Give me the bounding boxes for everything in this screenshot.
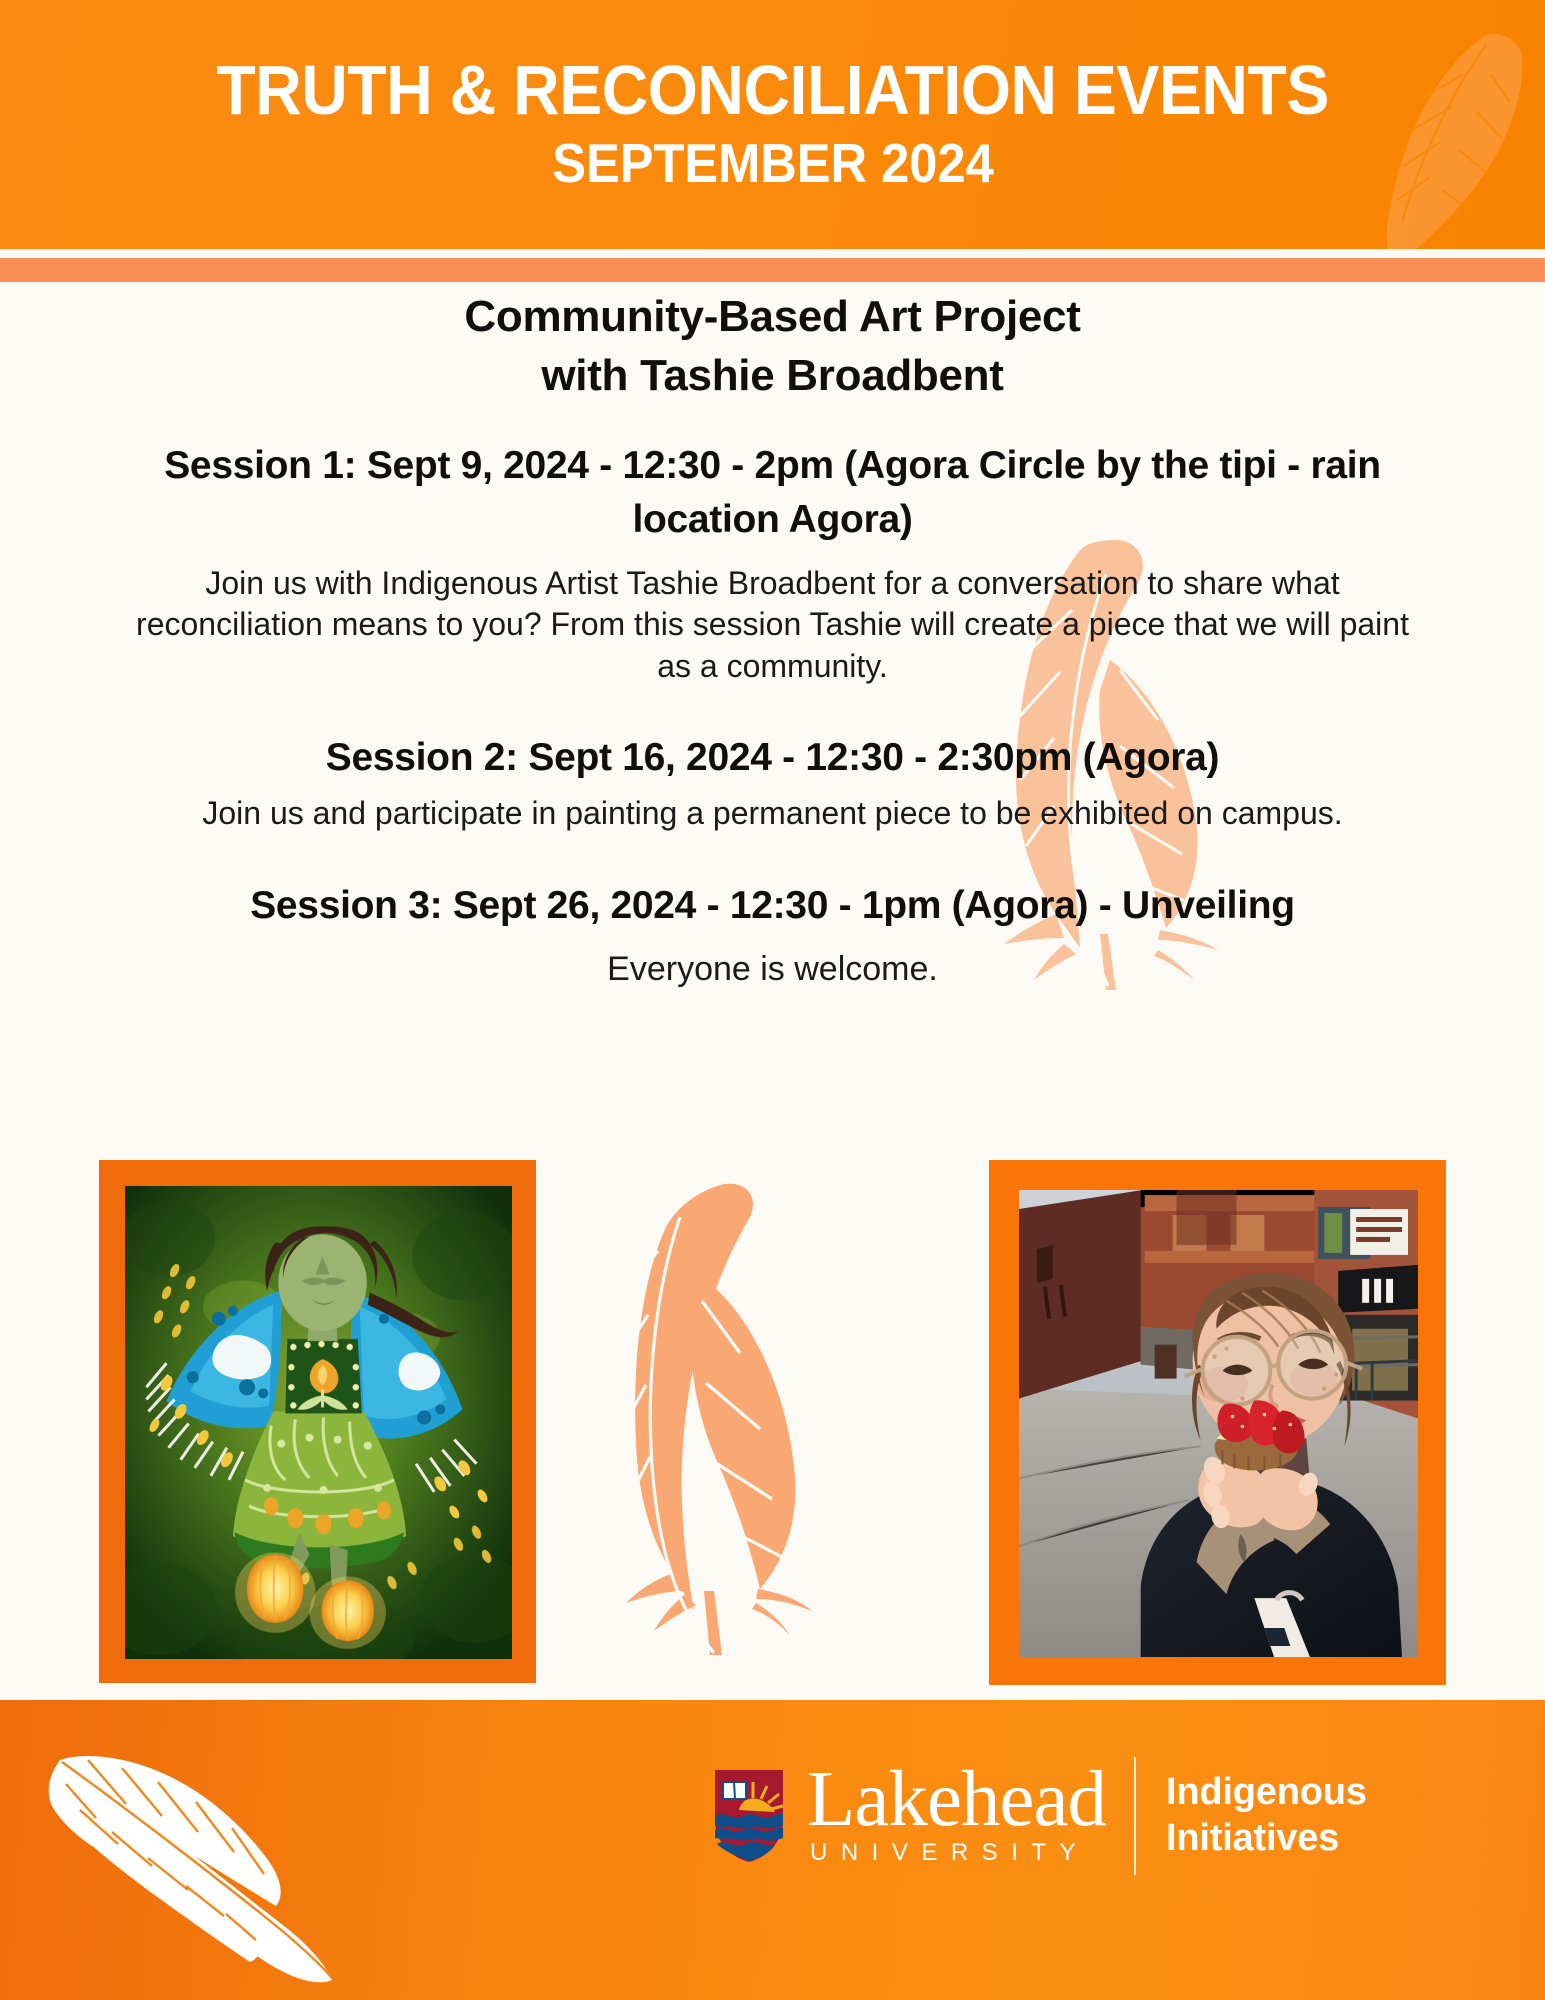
- logo-divider: [1134, 1757, 1136, 1875]
- session-1-description: Join us with Indigenous Artist Tashie Br…: [0, 563, 1545, 688]
- event-title-line-1: Community-Based Art Project: [0, 288, 1545, 347]
- session-3-heading: Session 3: Sept 26, 2024 - 12:30 - 1pm (…: [0, 879, 1545, 933]
- poster-footer: Lakehead UNIVERSITY Indigenous Initiativ…: [0, 1700, 1545, 2000]
- poster-subtitle: SEPTEMBER 2024: [552, 132, 994, 195]
- event-title-line-2: with Tashie Broadbent: [0, 347, 1545, 406]
- logo-subtitle: UNIVERSITY: [810, 1839, 1106, 1867]
- poster-canvas: TRUTH & RECONCILIATION EVENTS SEPTEMBER …: [0, 0, 1545, 2000]
- session-2-heading: Session 2: Sept 16, 2024 - 12:30 - 2:30p…: [0, 731, 1545, 785]
- accent-bar: [0, 258, 1545, 282]
- indigenous-artwork-photo: [99, 1160, 536, 1683]
- logo-wordmark: Lakehead: [807, 1764, 1106, 1837]
- poster-title: TRUTH & RECONCILIATION EVENTS: [216, 54, 1328, 128]
- lakehead-university-logo: Lakehead UNIVERSITY Indigenous Initiativ…: [713, 1748, 1367, 1883]
- image-row: [0, 1155, 1545, 1687]
- artist-portrait-photo: [989, 1160, 1446, 1685]
- session-1-heading: Session 1: Sept 9, 2024 - 12:30 - 2pm (A…: [0, 439, 1545, 547]
- header-text-block: TRUTH & RECONCILIATION EVENTS SEPTEMBER …: [0, 0, 1545, 249]
- unit-name: Indigenous Initiatives: [1166, 1770, 1367, 1861]
- feather-icon: [618, 1175, 828, 1655]
- unit-name-line-1: Indigenous: [1166, 1770, 1367, 1816]
- feather-icon: [26, 1700, 346, 1994]
- lakehead-shield-icon: [713, 1768, 785, 1864]
- session-3-description: Everyone is welcome.: [0, 947, 1545, 991]
- session-2-description: Join us and participate in painting a pe…: [0, 793, 1545, 835]
- header-gap: [0, 249, 1545, 258]
- poster-body: Community-Based Art Project with Tashie …: [0, 282, 1545, 1700]
- unit-name-line-2: Initiatives: [1166, 1816, 1367, 1862]
- body-content: Community-Based Art Project with Tashie …: [0, 282, 1545, 991]
- poster-header: TRUTH & RECONCILIATION EVENTS SEPTEMBER …: [0, 0, 1545, 249]
